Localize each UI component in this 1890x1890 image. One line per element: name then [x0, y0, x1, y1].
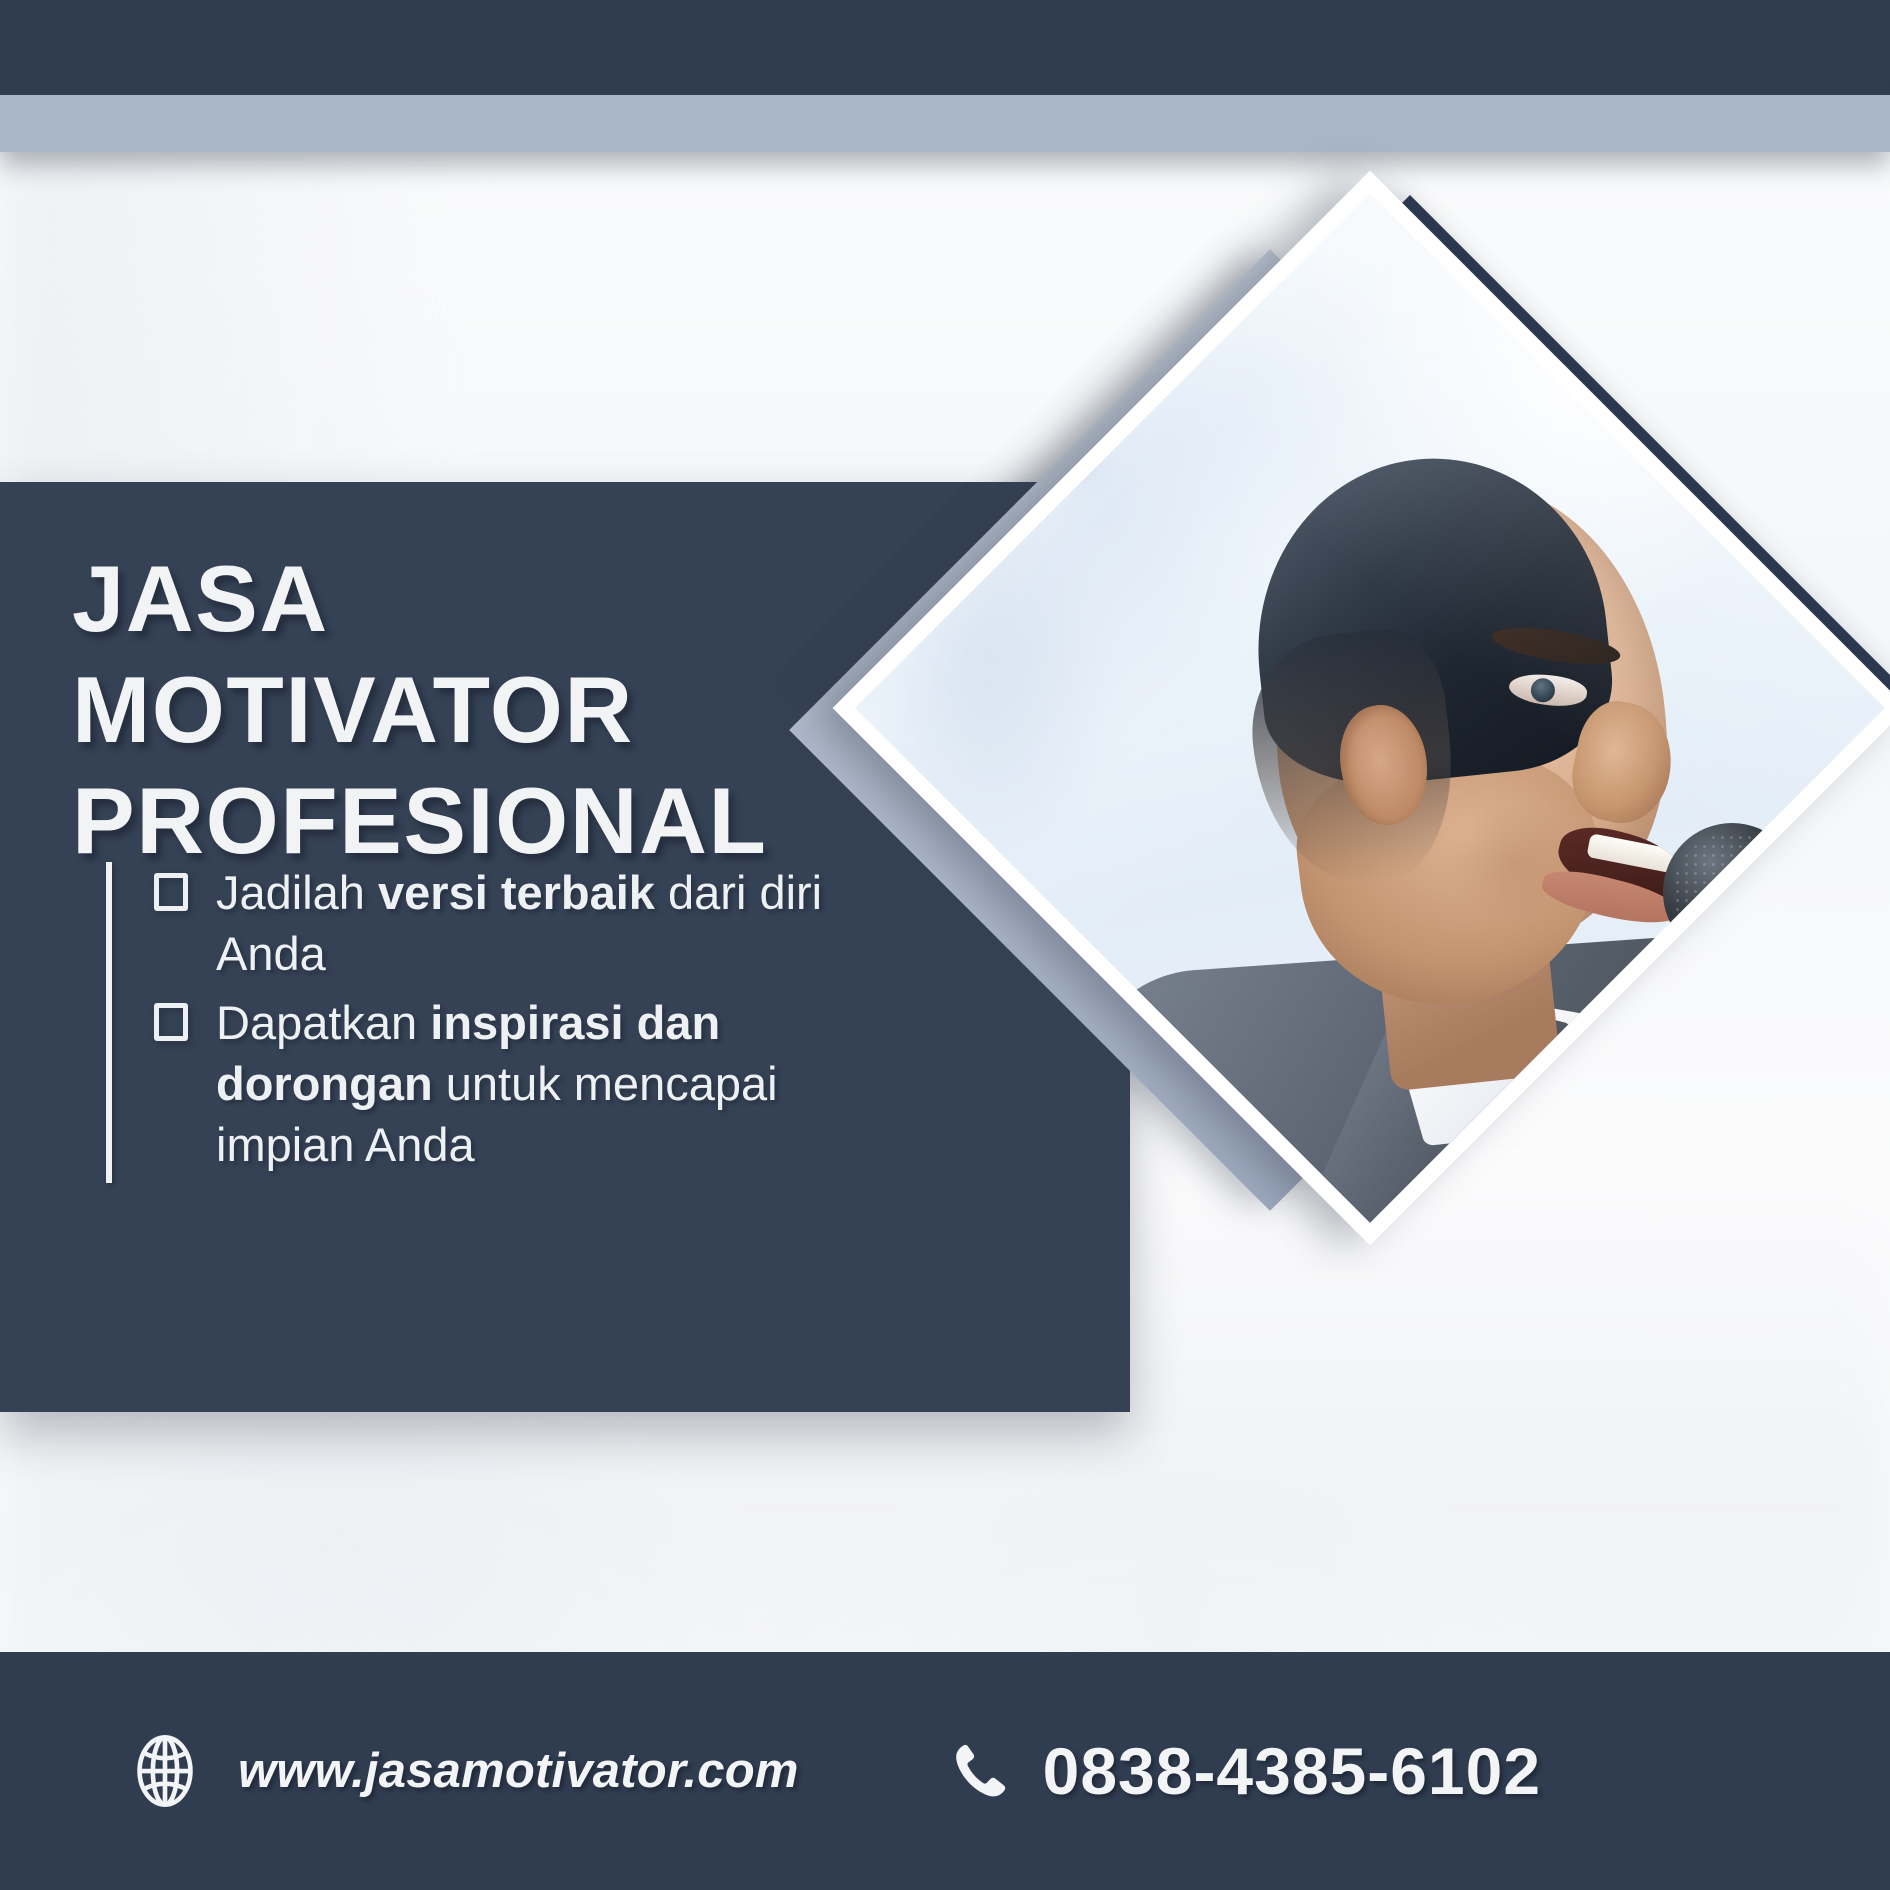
benefits-block: Jadilah versi terbaik dari diri Anda Dap… [106, 862, 826, 1183]
photo-frame [855, 193, 1885, 1223]
top-bar-dark [0, 0, 1890, 95]
venue-signage [855, 448, 1095, 698]
microphone-body [1746, 921, 1884, 1089]
bullet-prefix: Jadilah [216, 866, 378, 919]
diamond-card-photo [833, 171, 1890, 1246]
benefits-list: Jadilah versi terbaik dari diri Anda Dap… [154, 862, 826, 1183]
website-contact[interactable]: www.jasamotivator.com [128, 1734, 799, 1808]
checkbox-square-icon [154, 873, 188, 911]
promotional-poster: JASA MOTIVATOR PROFESIONAL Jadilah versi… [0, 0, 1890, 1890]
microphone-mesh [1673, 833, 1791, 951]
speaker-photo [855, 193, 1885, 1223]
pupil [1529, 677, 1556, 704]
microphone-icon [1663, 823, 1813, 973]
list-item: Jadilah versi terbaik dari diri Anda [154, 862, 826, 984]
bullet-bold: versi terbaik [378, 866, 655, 919]
bullet-prefix: Dapatkan [216, 996, 430, 1049]
microphone-band [1763, 933, 1815, 1000]
phone-icon [949, 1739, 1013, 1803]
microphone-head [1663, 823, 1801, 961]
accent-rule [106, 862, 112, 1183]
top-bar-light [0, 95, 1890, 152]
list-item: Dapatkan inspirasi dan dorongan untuk me… [154, 992, 826, 1175]
website-label: www.jasamotivator.com [238, 1743, 799, 1799]
phone-contact[interactable]: 0838-4385-6102 [949, 1733, 1541, 1809]
globe-icon [128, 1734, 202, 1808]
footer-contact-bar: www.jasamotivator.com 0838-4385-6102 [0, 1652, 1890, 1890]
phone-label: 0838-4385-6102 [1043, 1733, 1541, 1809]
diamond-photo-stack [760, 250, 1890, 1380]
checkbox-square-icon [154, 1003, 188, 1041]
